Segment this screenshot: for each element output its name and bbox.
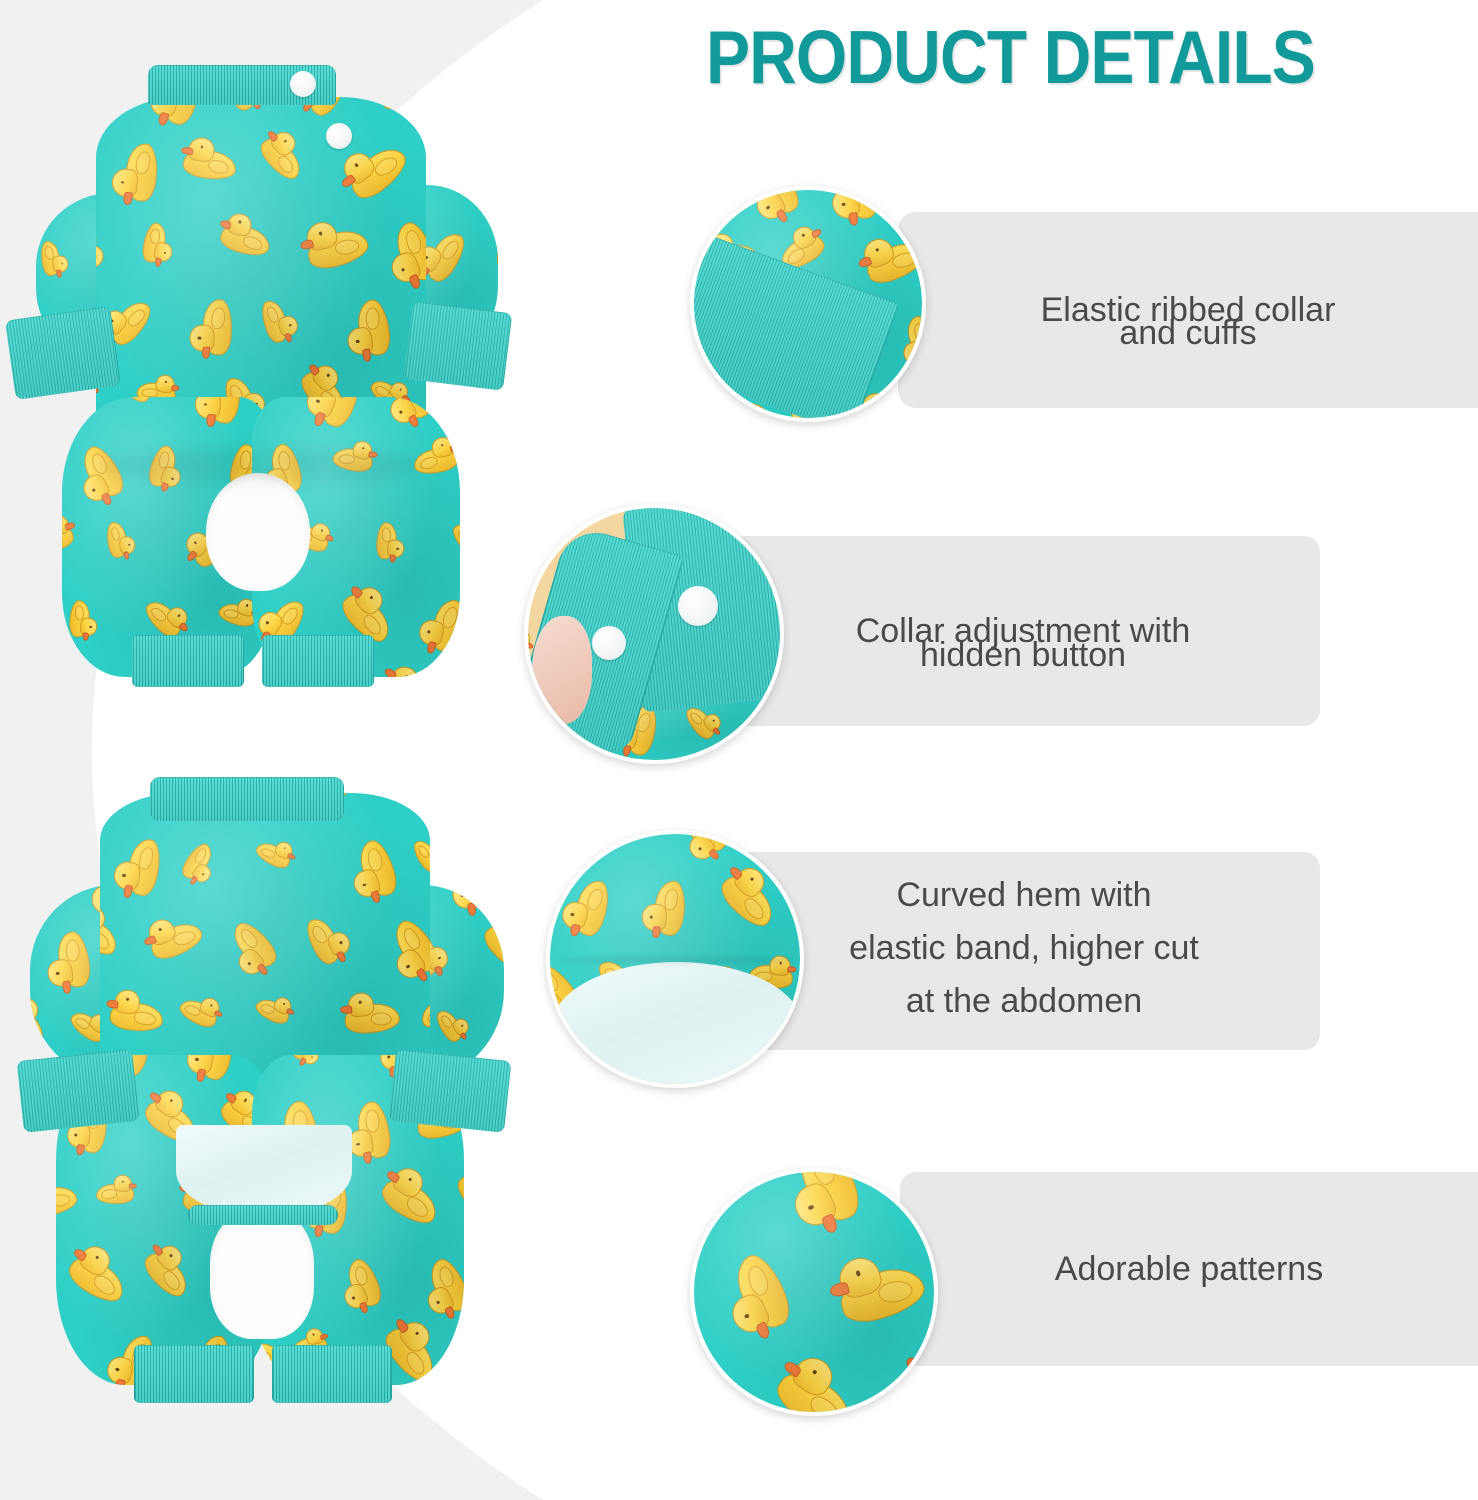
rubber-duck-icon <box>417 138 426 208</box>
belly-opening <box>210 1209 314 1339</box>
left-sleeve-cuff <box>5 306 121 400</box>
rubber-duck-icon <box>738 190 811 227</box>
feature-4-line-1: Adorable patterns <box>1041 1246 1337 1293</box>
rubber-duck-icon <box>751 834 800 855</box>
rubber-duck-icon <box>901 190 922 219</box>
feature-4-photo-duck-pattern-closeup <box>690 1168 938 1416</box>
rubber-duck-icon <box>416 593 460 656</box>
rubber-duck-icon <box>710 859 789 938</box>
product-image-pajama-belly-view <box>0 765 520 1465</box>
rubber-duck-icon <box>135 1238 202 1306</box>
rubber-duck-icon <box>444 512 460 568</box>
feature-2-photo-collar-snap-closeup <box>524 504 784 764</box>
collar-snap-button-1[interactable] <box>290 71 316 97</box>
rubber-duck-icon <box>493 232 498 275</box>
rubber-duck-icon <box>778 705 780 760</box>
rubber-duck-icon <box>373 397 441 430</box>
rubber-duck-icon <box>342 835 406 904</box>
elastic-band <box>188 1205 338 1225</box>
duck-fabric <box>694 1172 934 1412</box>
rubber-duck-icon <box>216 210 277 266</box>
rubber-duck-icon <box>252 1055 255 1070</box>
rubber-duck-icon <box>893 1172 934 1232</box>
rubber-duck-icon <box>251 831 297 875</box>
rubber-duck-icon <box>856 225 922 294</box>
rubber-duck-icon <box>712 1246 803 1342</box>
rubber-duck-icon <box>413 1252 464 1321</box>
rubber-duck-icon <box>110 140 166 203</box>
rubber-duck-icon <box>376 97 413 109</box>
feature-2-panel: Collar adjustment with hidden button <box>726 536 1320 726</box>
rubber-duck-icon <box>766 1348 869 1412</box>
rubber-duck-icon <box>62 671 89 677</box>
rubber-duck-icon <box>101 520 137 560</box>
rubber-duck-icon <box>36 193 72 224</box>
feature-3-panel: Curved hem with elastic band, higher cut… <box>728 852 1320 1050</box>
rubber-duck-icon <box>174 837 223 888</box>
feature-3-line-2: elastic band, higher cut <box>728 925 1320 972</box>
right-sleeve-cuff <box>404 301 513 391</box>
rubber-duck-icon <box>137 221 178 266</box>
feature-3-line-1: Curved hem with <box>728 872 1320 919</box>
rubber-duck-icon <box>447 185 482 191</box>
feature-3-photo-curved-hem-closeup <box>546 830 804 1088</box>
rubber-duck-icon <box>30 885 73 910</box>
rubber-duck-icon <box>343 990 400 1040</box>
rubber-duck-icon <box>882 1344 934 1412</box>
rubber-duck-icon <box>60 1239 138 1314</box>
rubber-duck-icon <box>62 397 89 423</box>
rubber-duck-icon <box>410 434 460 482</box>
snap-button-right[interactable] <box>678 586 718 626</box>
rubber-duck-icon <box>373 1161 451 1236</box>
rubber-duck-icon <box>830 1243 932 1337</box>
rubber-duck-icon <box>193 397 249 425</box>
rubber-duck-icon <box>301 397 372 432</box>
rubber-duck-icon <box>447 885 503 913</box>
rubber-duck-icon <box>180 135 239 188</box>
rubber-duck-icon <box>475 912 504 979</box>
rubber-duck-icon <box>65 600 99 639</box>
rubber-duck-icon <box>286 1055 333 1070</box>
feature-2-line-2: hidden button <box>726 632 1320 679</box>
waist-collar <box>150 777 344 821</box>
rubber-duck-icon <box>30 990 58 1057</box>
rubber-duck-icon <box>108 988 166 1040</box>
rubber-duck-icon <box>253 294 301 346</box>
feature-4-panel: Adorable patterns <box>900 1172 1478 1366</box>
rubber-duck-icon <box>595 834 646 841</box>
rubber-duck-icon <box>448 660 460 677</box>
snap-button-left[interactable] <box>592 626 626 660</box>
rubber-duck-icon <box>378 911 430 986</box>
rubber-duck-icon <box>550 834 579 851</box>
rubber-duck-icon <box>892 311 922 372</box>
rubber-duck-icon <box>42 929 98 992</box>
rubber-duck-icon <box>694 1172 746 1227</box>
rubber-duck-icon <box>184 1055 243 1084</box>
feature-1-photo-cuff-closeup <box>690 186 926 422</box>
rubber-duck-icon <box>772 1172 874 1237</box>
rubber-duck-icon <box>218 913 286 981</box>
left-sleeve-cuff <box>17 1049 140 1133</box>
page-title: PRODUCT DETAILS <box>706 18 1392 96</box>
rubber-duck-icon <box>448 397 460 414</box>
rubber-duck-icon <box>411 980 430 1038</box>
rubber-duck-icon <box>559 874 620 940</box>
rubber-duck-icon <box>102 397 168 412</box>
left-leg-cuff <box>134 1345 254 1403</box>
right-sleeve-cuff <box>389 1049 512 1133</box>
rubber-duck-icon <box>694 190 715 211</box>
rubber-duck-icon <box>175 987 225 1034</box>
rubber-duck-icon <box>251 988 296 1030</box>
rubber-duck-icon <box>56 1172 80 1225</box>
rubber-duck-icon <box>668 834 736 866</box>
infographic-canvas: PRODUCT DETAILS <box>0 0 1478 1500</box>
rubber-duck-icon <box>252 397 272 406</box>
feature-1-panel: Elastic ribbed collar and cuffs <box>898 212 1478 408</box>
rubber-duck-icon <box>252 125 315 188</box>
rubber-duck-icon <box>825 190 887 224</box>
elastic-seam <box>558 956 794 964</box>
feature-1-line-2: and cuffs <box>898 310 1478 357</box>
collar-snap-button-2[interactable] <box>326 123 352 149</box>
rubber-duck-icon <box>188 298 238 356</box>
rubber-duck-icon <box>56 1330 88 1385</box>
rubber-duck-icon <box>791 868 800 932</box>
rubber-duck-icon <box>142 907 208 969</box>
rubber-duck-icon <box>694 1365 731 1412</box>
hem-lining <box>552 962 800 1084</box>
finger <box>532 616 592 724</box>
right-leg-cuff <box>262 635 374 687</box>
rubber-duck-icon <box>96 1175 135 1209</box>
rubber-duck-icon <box>96 97 113 119</box>
rubber-duck-icon <box>252 676 255 677</box>
curved-hem-lining <box>176 1125 352 1217</box>
rubber-duck-icon <box>111 834 170 900</box>
rubber-duck-icon <box>342 297 398 360</box>
rubber-duck-icon <box>36 238 70 277</box>
rubber-duck-icon <box>333 1254 390 1315</box>
rubber-duck-icon <box>96 219 110 272</box>
rubber-duck-icon <box>300 212 373 278</box>
rubber-duck-icon <box>372 522 406 561</box>
rubber-duck-icon <box>378 216 426 290</box>
rubber-duck-icon <box>640 877 693 937</box>
rubber-duck-icon <box>430 1003 474 1048</box>
rubber-duck-icon <box>297 909 355 970</box>
rubber-duck-icon <box>451 1329 464 1385</box>
rubber-duck-icon <box>100 900 129 965</box>
feature-3-line-3: at the abdomen <box>728 978 1320 1025</box>
fabric-shadow <box>96 449 426 483</box>
right-leg-cuff <box>272 1345 392 1403</box>
rubber-duck-icon <box>100 793 114 808</box>
rubber-duck-icon <box>372 659 444 677</box>
left-leg-cuff <box>132 635 244 687</box>
rubber-duck-icon <box>407 833 430 878</box>
product-image-pajama-top-view <box>0 45 520 745</box>
rubber-duck-icon <box>62 512 77 560</box>
rubber-duck-icon <box>374 793 430 809</box>
